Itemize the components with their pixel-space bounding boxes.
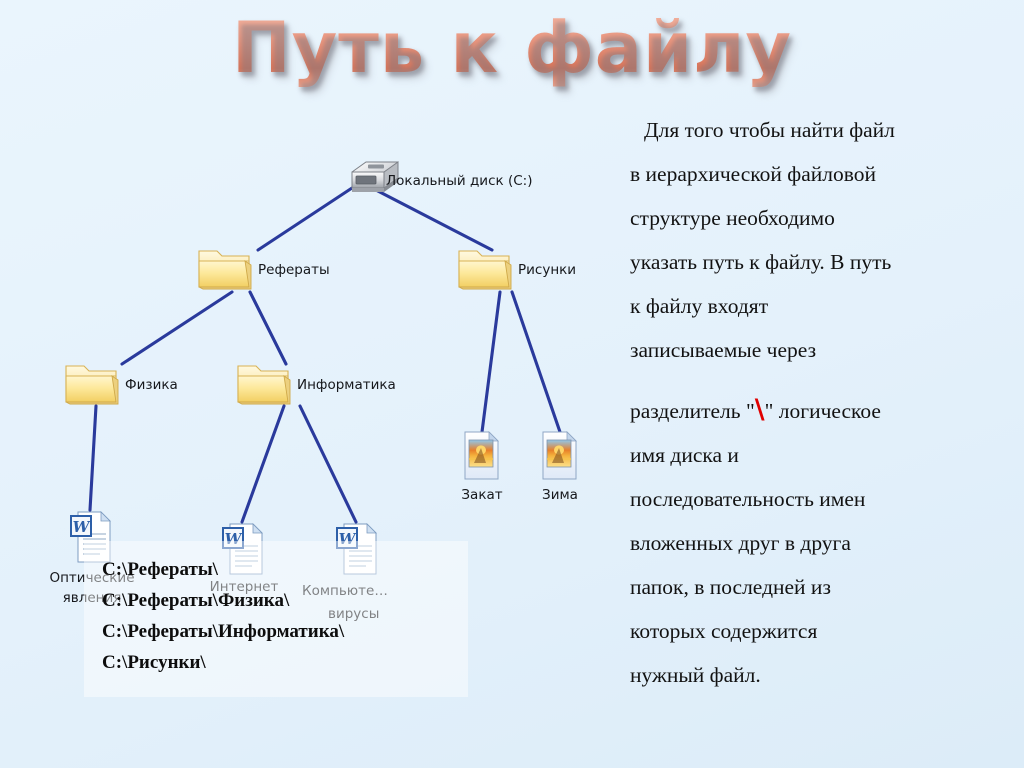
tree-node-zima[interactable]: Зима <box>540 430 580 487</box>
tree-node-informatika[interactable]: Информатика <box>234 358 294 413</box>
path-item: C:\Рефераты\Информатика\ <box>84 616 468 647</box>
paragraph-line: в иерархической файловой <box>630 152 1012 196</box>
title-container: Путь к файлу <box>0 2 1024 94</box>
tree-node-zakat[interactable]: Закат <box>462 430 502 487</box>
paragraph-line: вложенных друг в друга <box>630 521 1012 565</box>
folder-icon <box>195 243 255 293</box>
folder-icon <box>62 358 122 408</box>
paragraph-line: записываемые через <box>630 328 1012 372</box>
path-item: C:\Рефераты\ <box>84 541 468 585</box>
backslash-separator-glyph: \ <box>755 394 765 425</box>
path-examples-box: C:\Рефераты\ C:\Рефераты\Физика\ C:\Рефе… <box>84 541 468 697</box>
paragraph-line: последовательность имен <box>630 477 1012 521</box>
paragraph-line: к файлу входят <box>630 284 1012 328</box>
paragraph-line: нужный файл. <box>630 653 1012 697</box>
paragraph-line-separator: разделитель "\" логическое <box>630 388 1012 433</box>
separator-text-after: " логическое <box>765 399 881 423</box>
tree-node-label-zima: Зима <box>534 488 586 503</box>
paragraph-line: указать путь к файлу. В путь <box>630 240 1012 284</box>
tree-node-fizika[interactable]: Физика <box>62 358 122 413</box>
tree-node-local-disk[interactable]: Локальный диск (C:) <box>346 158 404 203</box>
tree-node-label-referaty: Рефераты <box>258 263 330 278</box>
tree-node-label-risunki: Рисунки <box>518 263 576 278</box>
image-file-icon <box>462 430 502 482</box>
tree-node-referaty[interactable]: Рефераты <box>195 243 255 298</box>
tree-node-label-fizika: Физика <box>125 378 178 393</box>
paragraph-spacer <box>630 372 1012 388</box>
paragraph-line: папок, в последней из <box>630 565 1012 609</box>
page-title: Путь к файлу <box>232 2 792 94</box>
tree-node-risunki[interactable]: Рисунки <box>455 243 515 298</box>
explanation-paragraph: Для того чтобы найти файл в иерархическо… <box>630 108 1012 697</box>
image-file-icon <box>540 430 580 482</box>
separator-text-before: разделитель " <box>630 399 755 423</box>
tree-node-label-local-disk: Локальный диск (C:) <box>386 174 532 189</box>
svg-text:W: W <box>73 518 92 536</box>
paragraph-line: структуре необходимо <box>630 196 1012 240</box>
folder-icon <box>234 358 294 408</box>
file-tree-diagram: Локальный диск (C:) Рефераты Рисунки <box>0 110 620 530</box>
paragraph-line: Для того чтобы найти файл <box>630 108 1012 152</box>
tree-node-label-informatika: Информатика <box>297 378 396 393</box>
slide-canvas: Путь к файлу <box>0 0 1024 768</box>
tree-node-label-zakat: Закат <box>456 488 508 503</box>
folder-icon <box>455 243 515 293</box>
path-item: C:\Рисунки\ <box>84 647 468 678</box>
path-item: C:\Рефераты\Физика\ <box>84 585 468 616</box>
paragraph-line: имя диска и <box>630 433 1012 477</box>
paragraph-line: которых содержится <box>630 609 1012 653</box>
